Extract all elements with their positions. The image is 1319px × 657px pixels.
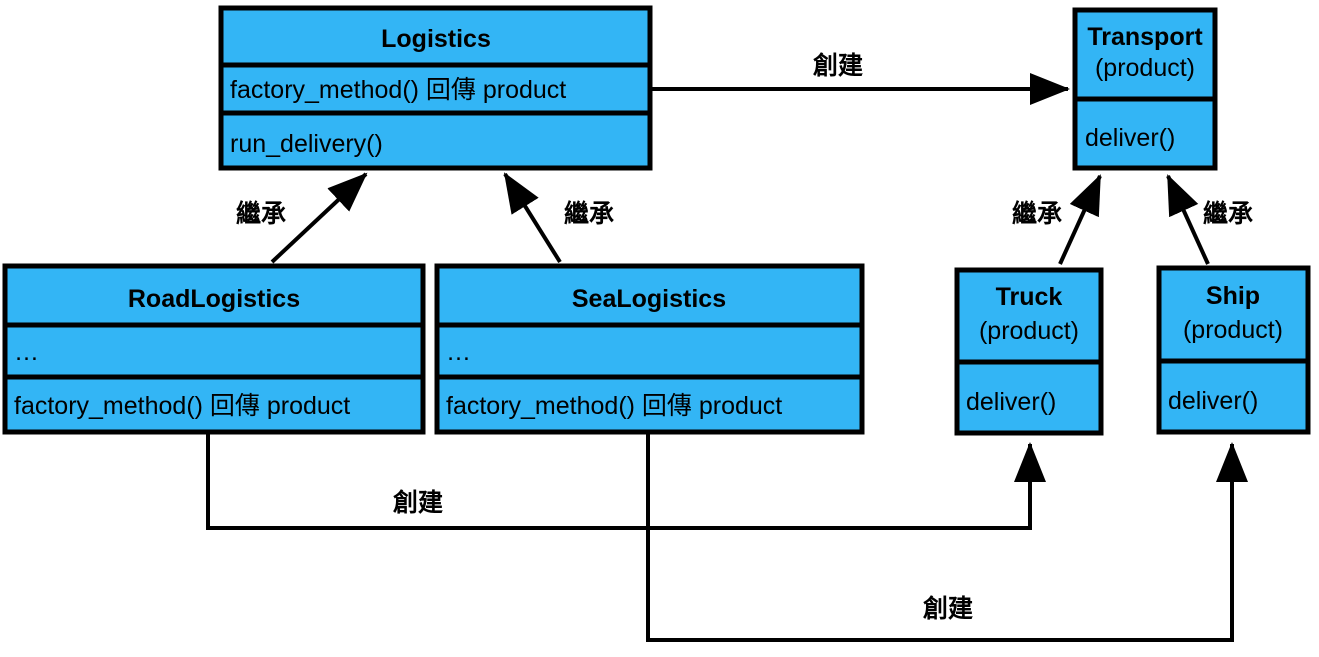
edge-roadlogistics-inherits-logistics: 繼承 — [236, 174, 366, 262]
edge-ship-inherits-transport: 繼承 — [1168, 176, 1253, 264]
class-box-transport[interactable]: Transport (product) deliver() — [1075, 10, 1215, 168]
edge-line — [1060, 176, 1100, 264]
class-member: … — [446, 338, 471, 366]
edge-label-inherits-transport-ship: 繼承 — [1203, 199, 1253, 228]
class-stereotype-truck: (product) — [979, 317, 1079, 345]
class-box-sea-logistics[interactable]: SeaLogistics … factory_method() 回傳 produ… — [437, 266, 862, 432]
edge-label-creates-transport: 創建 — [813, 52, 863, 80]
edge-sealogistics-inherits-logistics: 繼承 — [505, 174, 614, 262]
edge-roadlogistics-creates-truck: 創建 — [208, 434, 1030, 528]
uml-class-diagram: 創建 繼承 繼承 繼承 繼承 創建 創建 — [0, 0, 1319, 657]
class-member: … — [14, 338, 39, 366]
edge-label-inherits-logistics-sea: 繼承 — [564, 199, 614, 228]
edge-line — [505, 174, 560, 262]
edge-label-creates-ship: 創建 — [923, 595, 973, 623]
diagram-canvas: 創建 繼承 繼承 繼承 繼承 創建 創建 — [0, 0, 1319, 657]
class-stereotype-ship: (product) — [1183, 316, 1283, 344]
edge-sealogistics-creates-ship: 創建 — [648, 434, 1232, 640]
class-box-ship[interactable]: Ship (product) deliver() — [1159, 268, 1308, 432]
class-member: factory_method() 回傳 product — [446, 392, 782, 420]
class-name-logistics: Logistics — [381, 25, 491, 53]
edge-label-inherits-transport-truck: 繼承 — [1012, 199, 1062, 228]
class-member: deliver() — [966, 388, 1056, 416]
class-member: factory_method() 回傳 product — [230, 76, 566, 104]
class-name-transport: Transport — [1087, 23, 1203, 51]
edge-line — [208, 434, 1030, 528]
class-name-sea-logistics: SeaLogistics — [572, 285, 726, 313]
class-member: run_delivery() — [230, 130, 383, 158]
class-stereotype-transport: (product) — [1095, 54, 1195, 82]
edge-line — [272, 174, 366, 262]
class-member: deliver() — [1085, 124, 1175, 152]
class-box-truck[interactable]: Truck (product) deliver() — [957, 270, 1101, 433]
class-member: deliver() — [1168, 387, 1258, 415]
class-box-logistics[interactable]: Logistics factory_method() 回傳 product ru… — [221, 8, 650, 168]
edge-label-creates-truck: 創建 — [393, 489, 443, 517]
class-name-road-logistics: RoadLogistics — [128, 285, 300, 313]
edge-truck-inherits-transport: 繼承 — [1012, 176, 1100, 264]
class-box-road-logistics[interactable]: RoadLogistics … factory_method() 回傳 prod… — [5, 266, 423, 432]
class-member: factory_method() 回傳 product — [14, 392, 350, 420]
class-name-truck: Truck — [996, 283, 1063, 311]
edge-logistics-creates-transport: 創建 — [650, 52, 1068, 89]
edge-label-inherits-logistics-road: 繼承 — [236, 199, 286, 228]
class-name-ship: Ship — [1206, 282, 1260, 310]
